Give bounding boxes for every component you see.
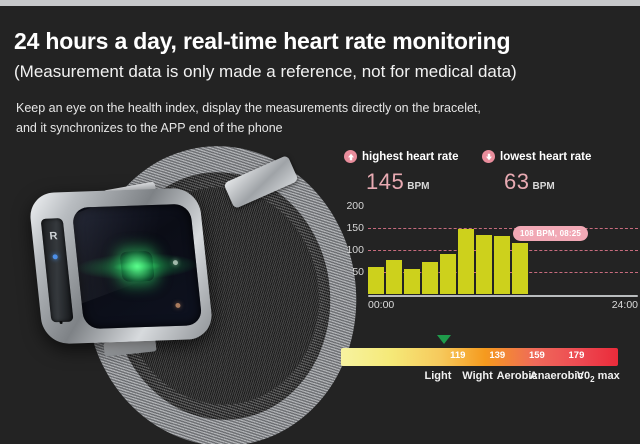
- zone-name-label: Wight: [462, 370, 492, 382]
- chart-y-tick: 150: [346, 222, 364, 234]
- watch-microphone-pin: [59, 321, 62, 324]
- chart-plot-area: 108 BPM, 08:25: [368, 206, 638, 294]
- display-glass-reflection: [72, 204, 203, 306]
- promo-page: 24 hours a day, real-time heart rate mon…: [0, 0, 640, 444]
- zone-name-label: Light: [424, 370, 451, 382]
- zone-boundary-value: 159: [529, 350, 545, 361]
- zone-boundary-value: 139: [489, 350, 505, 361]
- chart-y-tick: 50: [352, 266, 364, 278]
- chart-y-tick: 100: [346, 244, 364, 256]
- page-description: Keep an eye on the health index, display…: [16, 98, 481, 138]
- page-subtitle: (Measurement data is only made a referen…: [14, 62, 517, 82]
- chart-x-axis: 00:00 24:00: [368, 299, 638, 311]
- highest-heart-rate-value: 145: [366, 169, 404, 194]
- chart-x-start-label: 00:00: [368, 299, 394, 311]
- chart-baseline: [368, 295, 638, 297]
- zone-name-label: V02 max: [577, 370, 620, 384]
- heart-rate-panel: highest heart rate 145BPM lowest heart r…: [338, 150, 638, 400]
- chart-bar: [368, 267, 384, 294]
- watch-side-button-label: R: [44, 230, 63, 243]
- top-edge-strip: [0, 0, 640, 6]
- description-line-1: Keep an eye on the health index, display…: [16, 98, 481, 118]
- lowest-heart-rate-value: 63: [504, 169, 529, 194]
- watch-case: R: [28, 187, 214, 344]
- chart-bar: [494, 236, 510, 294]
- chart-bar: [440, 254, 456, 294]
- chart-x-end-label: 24:00: [612, 299, 638, 311]
- highest-heart-rate-label: highest heart rate: [362, 151, 459, 163]
- chart-bar: [476, 235, 492, 294]
- zone-names: LightWightAerobicAnaerobicV02 max: [341, 370, 618, 386]
- chart-annotation-tooltip: 108 BPM, 08:25: [513, 226, 588, 241]
- chart-bar: [386, 260, 402, 294]
- chart-y-axis: 20015010050: [338, 206, 364, 294]
- chart-bar: [404, 269, 420, 294]
- zone-boundary-value: 179: [569, 350, 585, 361]
- lowest-heart-rate-label: lowest heart rate: [500, 151, 591, 163]
- zone-boundary-value: 119: [450, 350, 465, 361]
- display-amber-dot: [175, 303, 181, 308]
- watch-status-led: [52, 254, 58, 259]
- chart-bars: [368, 206, 528, 294]
- heart-rate-bar-chart: 20015010050 108 BPM, 08:25 00:00 24:00: [338, 206, 638, 316]
- heart-rate-stats: highest heart rate 145BPM lowest heart r…: [338, 150, 638, 170]
- arrow-up-icon: [344, 150, 357, 163]
- highest-heart-rate-stat: highest heart rate 145BPM: [344, 150, 459, 195]
- zone-current-marker-icon: [437, 335, 451, 344]
- watch-display: [72, 204, 203, 329]
- zone-name-label: Anaerobic: [530, 370, 584, 382]
- chart-bar: [422, 262, 438, 294]
- description-line-2: and it synchronizes to the APP end of th…: [16, 118, 481, 138]
- chart-bar: [512, 243, 528, 294]
- lowest-heart-rate-stat: lowest heart rate 63BPM: [482, 150, 591, 195]
- chart-bar: [458, 229, 474, 294]
- chart-y-tick: 200: [346, 200, 364, 212]
- highest-heart-rate-unit: BPM: [407, 181, 429, 192]
- lowest-heart-rate-unit: BPM: [532, 181, 554, 192]
- arrow-down-icon: [482, 150, 495, 163]
- smartwatch-illustration: R: [0, 140, 330, 444]
- page-title: 24 hours a day, real-time heart rate mon…: [14, 28, 510, 55]
